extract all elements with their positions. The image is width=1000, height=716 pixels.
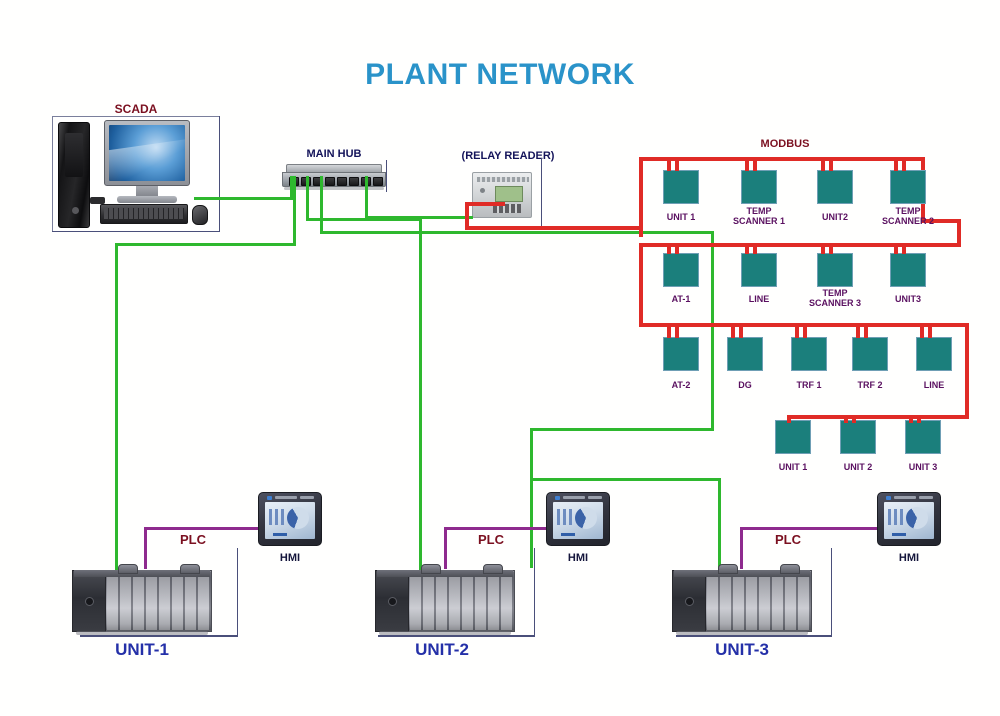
modbus-node-label: LINE (724, 294, 794, 304)
modbus-drop-r3n1b (675, 323, 679, 338)
lan-wire-unit3-final-drop (718, 480, 721, 570)
modbus-drop-r1n1a (667, 157, 671, 171)
lan-wire-unit3-drop-b (530, 428, 533, 568)
unit-label-2: UNIT-2 (372, 640, 512, 660)
modbus-drop-r1n1b (675, 157, 679, 171)
modbus-drop-r3n4b (864, 323, 868, 338)
lan-wire-hub-port8-riser (365, 176, 368, 218)
modbus-node-at-1[interactable] (663, 253, 699, 287)
plc-wire-unit-1-riser (144, 527, 147, 569)
plc-wire-unit-1-horizontal (144, 527, 262, 530)
plc-rack-unit-1[interactable] (72, 562, 212, 634)
hub-bracket (386, 160, 387, 192)
monitor-icon (104, 120, 190, 186)
modbus-drop-r3n3a (795, 323, 799, 338)
lan-wire-scada-hub (194, 197, 293, 200)
plc-wire-unit-3-horizontal (740, 527, 880, 530)
unit-3-bracket-bottom (676, 635, 832, 637)
lan-wire-unit1-drop (115, 243, 118, 570)
modbus-node-temp-scanner-1[interactable] (741, 170, 777, 204)
lan-wire-unit1-horizontal (115, 243, 296, 246)
modbus-label: MODBUS (730, 138, 840, 150)
plc-label-unit-3: PLC (775, 532, 801, 547)
modbus-drop-r3n1a (667, 323, 671, 338)
modbus-drop-r2n4b (902, 243, 906, 254)
modbus-drop-r4n3a (909, 415, 913, 423)
modbus-drop-r3n5a (920, 323, 924, 338)
modbus-drop-r4n1 (787, 415, 791, 423)
modbus-drop-r3n2a (731, 323, 735, 338)
modbus-node-line-1[interactable] (741, 253, 777, 287)
lan-wire-unit1-riser (293, 176, 296, 246)
unit-1-bracket-right (237, 548, 238, 636)
modbus-node-unit-2-row4[interactable] (840, 420, 876, 454)
modbus-drop-r3n3b (803, 323, 807, 338)
unit-2-bracket-bottom (378, 635, 535, 637)
modbus-drop-r1n3b (829, 157, 833, 171)
unit-3-bracket-right (831, 548, 832, 636)
hmi-panel-unit-3[interactable] (877, 492, 941, 546)
hmi-label-unit-2: HMI (546, 552, 610, 564)
network-switch-icon (282, 164, 386, 190)
modbus-drop-r4n2a (844, 415, 848, 423)
modbus-node-label: UNIT 3 (888, 462, 958, 472)
lan-wire-unit3-horizontal-mid (530, 428, 714, 431)
modbus-node-at-2[interactable] (663, 337, 699, 371)
modbus-drop-r3n4a (856, 323, 860, 338)
unit-label-1: UNIT-1 (72, 640, 212, 660)
relay-reader-icon (472, 172, 532, 218)
modbus-node-trf-1[interactable] (791, 337, 827, 371)
modbus-node-unit3[interactable] (890, 253, 926, 287)
unit-label-3: UNIT-3 (672, 640, 812, 660)
modbus-node-temp-scanner-3[interactable] (817, 253, 853, 287)
lan-wire-unit3-horizontal-top (320, 231, 714, 234)
modbus-node-label: TEMP SCANNER 2 (873, 206, 943, 226)
modbus-node-label: UNIT 1 (758, 462, 828, 472)
mouse-icon (192, 205, 208, 225)
speaker-icon (90, 197, 105, 204)
plc-rack-unit-2[interactable] (375, 562, 515, 634)
modbus-node-temp-scanner-2[interactable] (890, 170, 926, 204)
diagram-canvas: PLANT NETWORK SCADA MAIN HUB (RELAY READ… (0, 0, 1000, 716)
modbus-trunk-to-relay (465, 202, 505, 206)
modbus-node-unit-3-row4[interactable] (905, 420, 941, 454)
modbus-node-label: LINE (899, 380, 969, 390)
modbus-node-unit-1-row4[interactable] (775, 420, 811, 454)
modbus-drop-r3n5b (928, 323, 932, 338)
modbus-node-label: AT-2 (646, 380, 716, 390)
modbus-node-label: TRF 1 (774, 380, 844, 390)
plc-rack-unit-3[interactable] (672, 562, 812, 634)
modbus-row2-bus (639, 243, 961, 247)
scada-bracket-bottom (52, 231, 220, 232)
lan-wire-unit2-riser (306, 176, 309, 221)
modbus-row4-bus (787, 415, 969, 419)
lan-wire-unit3-riser-a (320, 176, 323, 234)
plc-label-unit-1: PLC (180, 532, 206, 547)
main-hub-label: MAIN HUB (288, 148, 380, 160)
page-title: PLANT NETWORK (0, 58, 1000, 92)
modbus-node-label: DG (710, 380, 780, 390)
lan-wire-unit3-drop-a (711, 231, 714, 431)
modbus-drop-r1n4a (894, 157, 898, 171)
modbus-drop-r2n1b (675, 243, 679, 254)
modbus-row3-right-return (965, 323, 969, 419)
modbus-drop-r1n3a (821, 157, 825, 171)
plc-wire-unit-3-riser (740, 527, 743, 569)
modbus-row1-left-return (639, 157, 643, 237)
hmi-panel-unit-1[interactable] (258, 492, 322, 546)
modbus-node-dg[interactable] (727, 337, 763, 371)
plc-wire-unit-2-riser (444, 527, 447, 569)
modbus-trunk-horizontal (465, 226, 643, 230)
keyboard-icon (100, 204, 188, 224)
hmi-label-unit-1: HMI (258, 552, 322, 564)
plc-label-unit-2: PLC (478, 532, 504, 547)
lan-wire-unit3-horizontal-low (530, 478, 721, 481)
modbus-drop-r4n3b (917, 415, 921, 423)
modbus-node-label: TRF 2 (835, 380, 905, 390)
modbus-drop-r1n2b (753, 157, 757, 171)
computer-tower-icon (58, 122, 90, 228)
hmi-label-unit-3: HMI (877, 552, 941, 564)
modbus-node-label: AT-1 (646, 294, 716, 304)
modbus-drop-r2n3a (821, 243, 825, 254)
unit-2-bracket-right (534, 548, 535, 636)
modbus-node-label: UNIT2 (800, 212, 870, 222)
relay-reader-label: (RELAY READER) (448, 150, 568, 162)
modbus-drop-r2n4a (894, 243, 898, 254)
modbus-node-label: TEMP SCANNER 1 (724, 206, 794, 226)
scada-bracket-right (219, 116, 220, 232)
modbus-row2-left-return (639, 243, 643, 327)
modbus-drop-r2n1a (667, 243, 671, 254)
modbus-node-unit2[interactable] (817, 170, 853, 204)
modbus-node-label: UNIT3 (873, 294, 943, 304)
hmi-panel-unit-2[interactable] (546, 492, 610, 546)
modbus-drop-r1n4b (902, 157, 906, 171)
modbus-node-label: TEMP SCANNER 3 (800, 288, 870, 308)
unit-1-bracket-bottom (80, 635, 238, 637)
relay-bracket (541, 158, 542, 228)
lan-wire-unit2-horizontal (306, 218, 422, 221)
modbus-drop-r3n2b (739, 323, 743, 338)
modbus-node-line-2[interactable] (916, 337, 952, 371)
plc-wire-unit-2-horizontal (444, 527, 550, 530)
modbus-drop-r4n2b (852, 415, 856, 423)
scada-label: SCADA (96, 102, 176, 116)
modbus-drop-r2n2a (745, 243, 749, 254)
modbus-node-unit-1[interactable] (663, 170, 699, 204)
modbus-drop-r2n2b (753, 243, 757, 254)
modbus-node-label: UNIT 1 (646, 212, 716, 222)
modbus-row1-bus (639, 157, 925, 161)
modbus-node-label: UNIT 2 (823, 462, 893, 472)
modbus-node-trf-2[interactable] (852, 337, 888, 371)
modbus-drop-r2n3b (829, 243, 833, 254)
lan-wire-unit2-drop (419, 218, 422, 570)
modbus-drop-r1n2a (745, 157, 749, 171)
monitor-base (117, 196, 177, 203)
